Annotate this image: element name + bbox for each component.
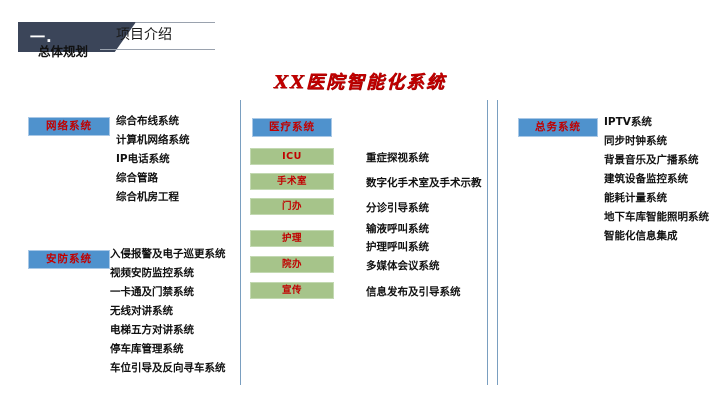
category-box-security[interactable]: 安防系统 (28, 250, 110, 269)
header-rule-top (136, 22, 215, 23)
dept-box-outpatient-office[interactable]: 门办 (250, 198, 334, 215)
list-item: 一卡通及门禁系统 (110, 283, 226, 302)
item-list-network: 综合布线系统 计算机网络系统 IP电话系统 综合管路 综合机房工程 (116, 112, 190, 207)
page-title: XX医院智能化系统 (0, 68, 720, 94)
list-item: 分诊引导系统 (366, 200, 429, 215)
list-item: 能耗计量系统 (604, 189, 709, 208)
slide-header: 一. 项目介绍 总体规划 (0, 0, 720, 70)
header-rule-bottom (100, 49, 215, 50)
list-item: IPTV系统 (604, 113, 709, 132)
divider-middle-right-a (487, 100, 488, 385)
list-item: 建筑设备监控系统 (604, 170, 709, 189)
list-item: 重症探视系统 (366, 150, 429, 165)
list-item: 综合布线系统 (116, 112, 190, 131)
header-nav-title: 项目介绍 (116, 24, 172, 46)
list-item: IP电话系统 (116, 150, 190, 169)
dept-box-nursing[interactable]: 护理 (250, 230, 334, 247)
list-item: 同步时钟系统 (604, 132, 709, 151)
list-item: 无线对讲系统 (110, 302, 226, 321)
list-item: 输液呼叫系统 (366, 221, 429, 236)
list-item: 入侵报警及电子巡更系统 (110, 245, 226, 264)
dept-box-icu[interactable]: ICU (250, 148, 334, 165)
category-box-general-affairs[interactable]: 总务系统 (518, 118, 598, 137)
list-item: 信息发布及引导系统 (366, 284, 461, 299)
list-item: 综合管路 (116, 169, 190, 188)
category-box-network[interactable]: 网络系统 (28, 117, 110, 136)
list-item: 综合机房工程 (116, 188, 190, 207)
divider-middle-right-b (497, 100, 498, 385)
list-item: 多媒体会议系统 (366, 258, 440, 273)
dept-box-operating-room[interactable]: 手术室 (250, 173, 334, 190)
list-item: 背景音乐及广播系统 (604, 151, 709, 170)
list-item: 计算机网络系统 (116, 131, 190, 150)
category-box-medical[interactable]: 医疗系统 (252, 118, 332, 137)
list-item: 地下车库智能照明系统 (604, 208, 709, 227)
list-item: 停车库管理系统 (110, 340, 226, 359)
item-list-general-affairs: IPTV系统 同步时钟系统 背景音乐及广播系统 建筑设备监控系统 能耗计量系统 … (604, 113, 709, 246)
dept-box-hospital-office[interactable]: 院办 (250, 256, 334, 273)
list-item: 电梯五方对讲系统 (110, 321, 226, 340)
dept-box-publicity[interactable]: 宣传 (250, 282, 334, 299)
divider-left-middle (240, 100, 241, 385)
list-item: 智能化信息集成 (604, 227, 709, 246)
list-item: 数字化手术室及手术示教 (366, 175, 482, 190)
list-item: 车位引导及反向寻车系统 (110, 359, 226, 378)
item-list-security: 入侵报警及电子巡更系统 视频安防监控系统 一卡通及门禁系统 无线对讲系统 电梯五… (110, 245, 226, 378)
list-item: 护理呼叫系统 (366, 239, 429, 254)
list-item: 视频安防监控系统 (110, 264, 226, 283)
header-subtitle: 总体规划 (38, 44, 88, 60)
